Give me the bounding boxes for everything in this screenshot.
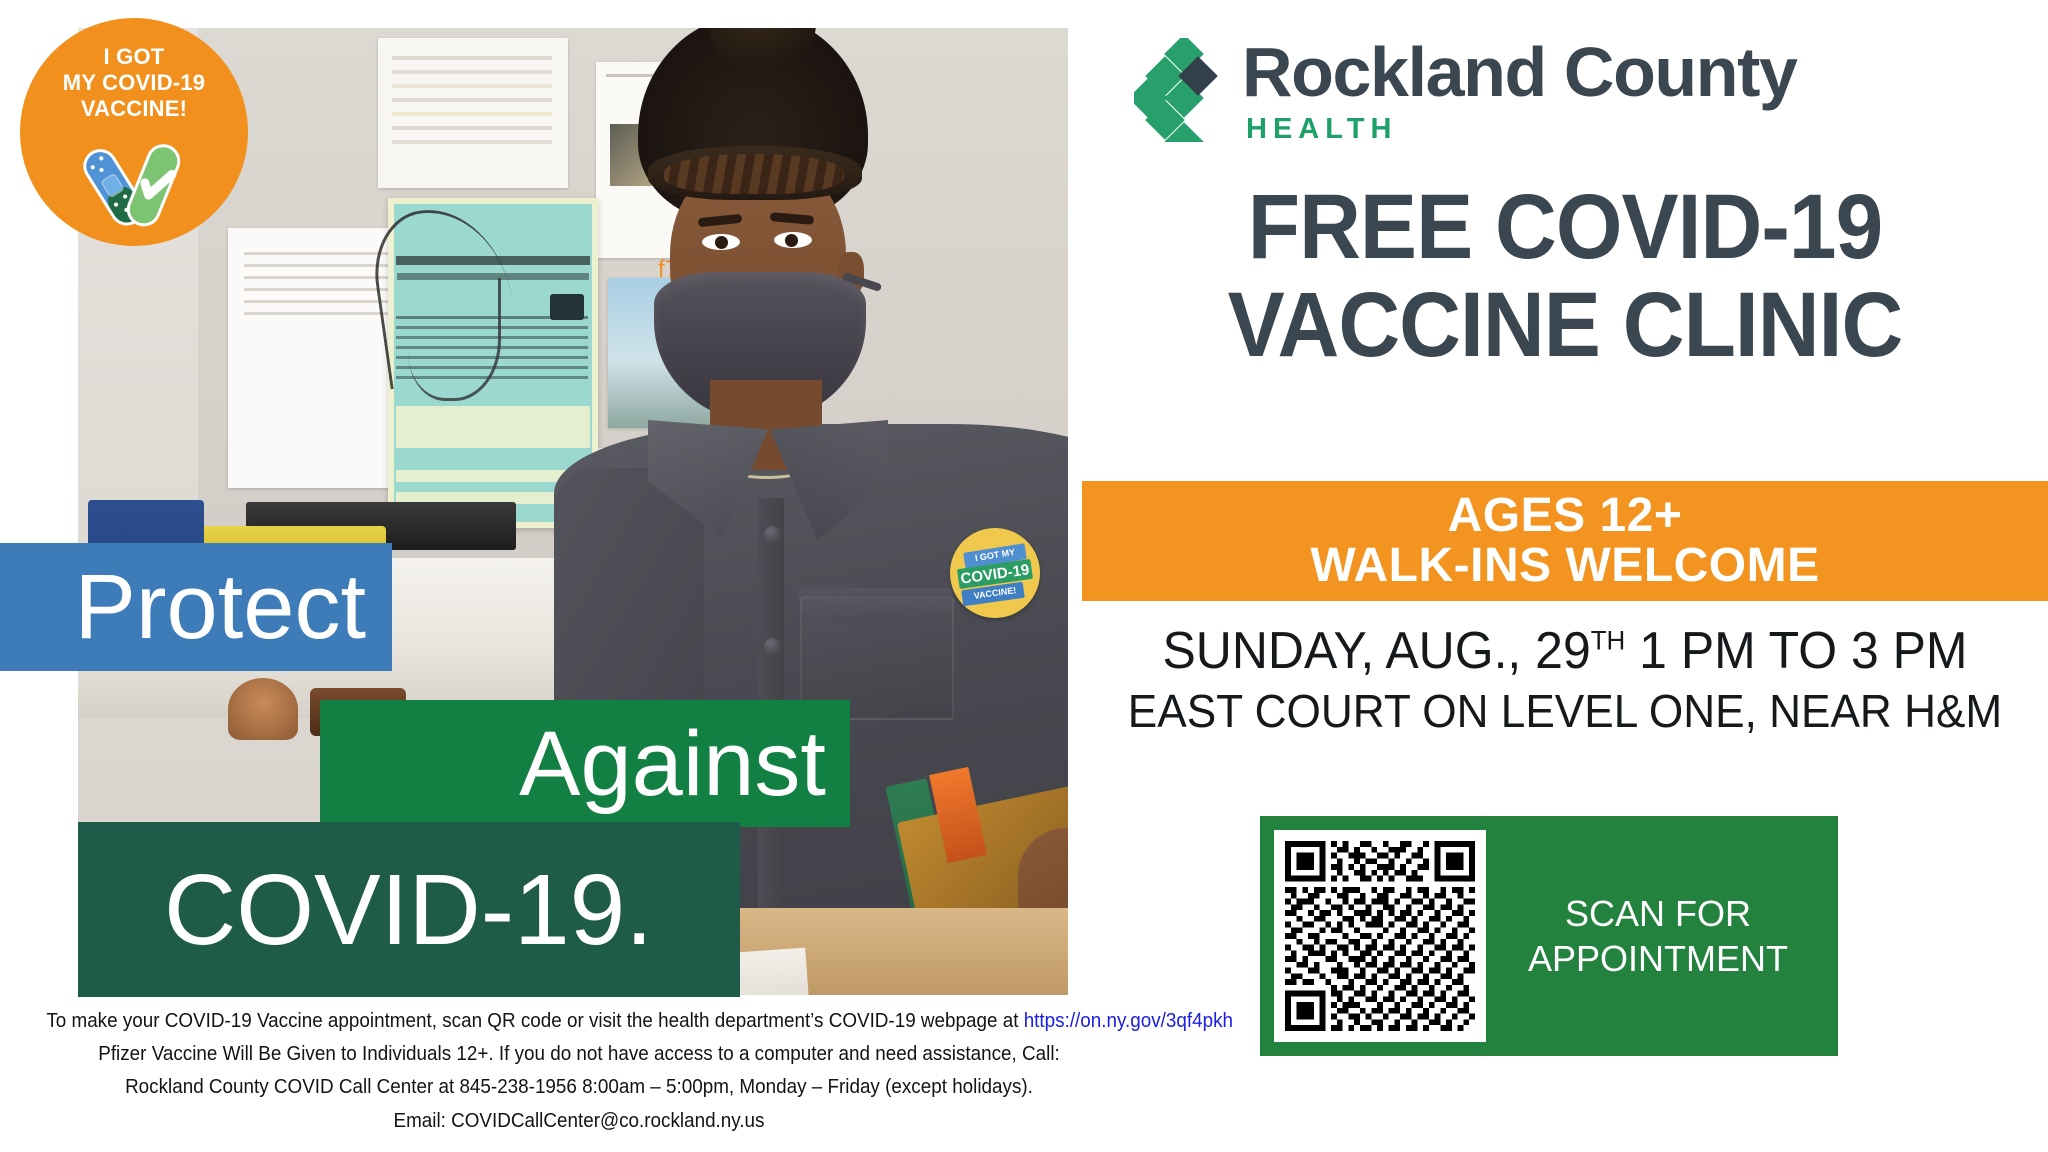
covid-webpage-link[interactable]: https://on.ny.gov/3qf4pkh [1024, 1009, 1233, 1032]
bandage-checkmark-icon [75, 138, 193, 230]
scan-label: SCAN FOR APPOINTMENT [1486, 891, 1838, 981]
event-location: EAST COURT ON LEVEL ONE, NEAR H&M [1101, 686, 2028, 738]
person-eye [702, 234, 740, 250]
fine-print-line-3: Rockland County COVID Call Center at 845… [46, 1070, 1111, 1103]
fine-print-line-1-text: To make your COVID-19 Vaccine appointmen… [46, 1009, 1023, 1032]
shirt-button [764, 526, 781, 543]
scan-label-line-2: APPOINTMENT [1486, 936, 1830, 981]
fine-print-line-1: To make your COVID-19 Vaccine appointmen… [46, 1004, 1111, 1037]
band-protect-label: Protect [75, 561, 366, 653]
shirt-button [764, 638, 781, 655]
event-details: SUNDAY, AUG., 29TH 1 PM TO 3 PM EAST COU… [1082, 622, 2048, 738]
vaccine-sticker: I GOT MY COVID-19 VACCINE! [950, 528, 1040, 618]
scan-for-appointment-panel[interactable]: SCAN FOR APPOINTMENT [1260, 816, 1838, 1056]
rockland-county-health-logo: Rockland County HEALTH [1134, 38, 1797, 146]
scan-label-line-1: SCAN FOR [1486, 891, 1830, 936]
badge-line-1: I GOT [20, 44, 248, 70]
fine-print-line-2: Pfizer Vaccine Will Be Given to Individu… [46, 1037, 1111, 1070]
headline-line-1: FREE COVID-19 [1116, 178, 2014, 276]
event-date-ordinal: TH [1591, 626, 1626, 656]
logo-subtitle: HEALTH [1246, 113, 1797, 146]
banner-line-1: AGES 12+ [1448, 491, 1683, 541]
band-protect: Protect [0, 543, 392, 671]
fine-print: To make your COVID-19 Vaccine appointmen… [46, 1004, 1111, 1137]
diamond-cluster-icon [1134, 38, 1226, 142]
band-against: Against [320, 700, 850, 827]
person-eye [774, 232, 812, 248]
event-time: 1 PM TO 3 PM [1625, 622, 1967, 680]
i-got-my-vaccine-badge: I GOT MY COVID-19 VACCINE! [20, 18, 248, 246]
vaccine-clinic-flyer: f79420 [0, 0, 2048, 1152]
headline: FREE COVID-19 VACCINE CLINIC [1082, 178, 2048, 375]
band-covid19-label: COVID-19. [164, 860, 653, 960]
badge-line-3: VACCINE! [20, 96, 248, 122]
band-against-label: Against [519, 718, 826, 810]
headline-line-2: VACCINE CLINIC [1116, 276, 2014, 374]
person-braid [664, 154, 844, 194]
ages-walkins-banner: AGES 12+ WALK-INS WELCOME [1082, 481, 2048, 601]
banner-line-2: WALK-INS WELCOME [1310, 541, 1819, 591]
qr-code-icon[interactable] [1285, 841, 1475, 1031]
badge-text: I GOT MY COVID-19 VACCINE! [20, 44, 248, 122]
event-date-prefix: SUNDAY, AUG., 29 [1163, 622, 1591, 680]
qr-code-container[interactable] [1274, 830, 1486, 1042]
event-datetime: SUNDAY, AUG., 29TH 1 PM TO 3 PM [1101, 622, 2028, 680]
wooden-spool [228, 678, 298, 740]
right-column: Rockland County HEALTH FREE COVID-19 VAC… [1082, 0, 2048, 1152]
fine-print-line-4: Email: COVIDCallCenter@co.rockland.ny.us [46, 1104, 1111, 1137]
band-covid19: COVID-19. [78, 822, 740, 997]
badge-line-2: MY COVID-19 [20, 70, 248, 96]
logo-title: Rockland County [1242, 38, 1797, 107]
